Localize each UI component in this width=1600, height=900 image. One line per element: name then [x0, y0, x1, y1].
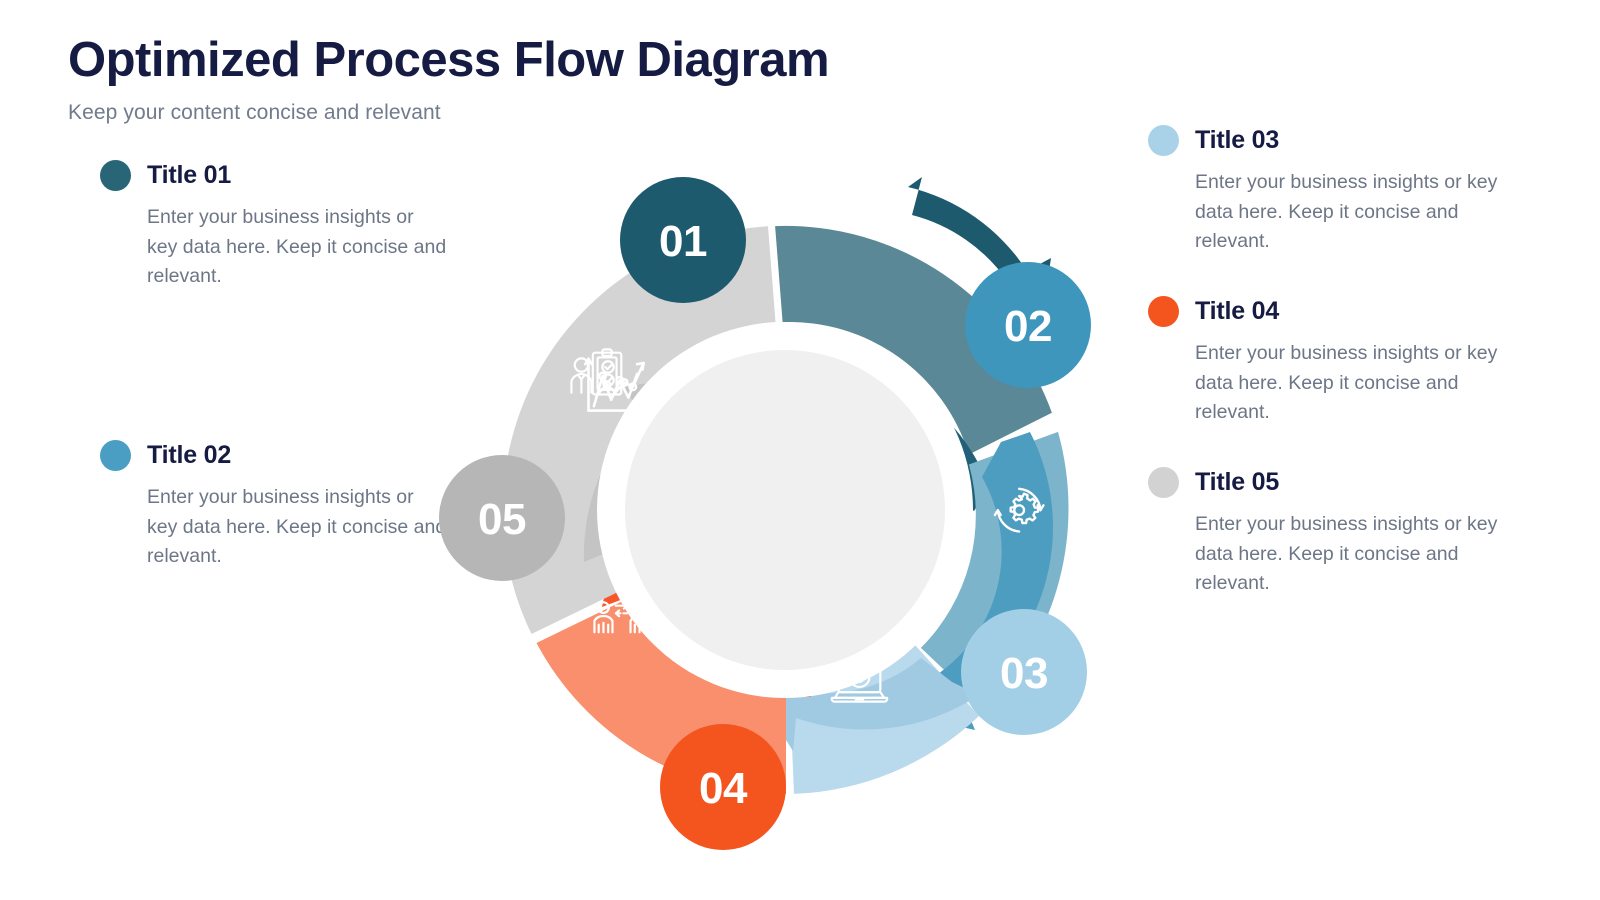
legend-title: Title 02: [147, 441, 231, 470]
wheel-center-disc: [625, 350, 945, 670]
slide-canvas: Optimized Process Flow Diagram Keep your…: [0, 0, 1600, 900]
legend-title: Title 05: [1195, 468, 1279, 497]
legend-item-title-01[interactable]: Title 01 Enter your business insights or…: [100, 160, 430, 292]
legend-bullet-icon: [1148, 296, 1179, 327]
legend-description: Enter your business insights or key data…: [1195, 168, 1505, 257]
legend-head: Title 05: [1148, 467, 1478, 498]
step-badge-05-label: 05: [478, 495, 526, 544]
step-badge-01-label: 01: [659, 217, 707, 266]
header: Optimized Process Flow Diagram Keep your…: [68, 34, 829, 125]
legend-bullet-icon: [100, 440, 131, 471]
legend-item-title-03[interactable]: Title 03 Enter your business insights or…: [1148, 125, 1478, 257]
legend-item-title-04[interactable]: Title 04 Enter your business insights or…: [1148, 296, 1478, 428]
legend-head: Title 04: [1148, 296, 1478, 327]
step-badge-05[interactable]: 05: [439, 455, 565, 581]
step-badge-03-label: 03: [1000, 649, 1048, 698]
step-badge-02[interactable]: 02: [965, 262, 1091, 388]
legend-description: Enter your business insights or key data…: [147, 483, 447, 572]
step-badge-03[interactable]: 03: [961, 609, 1087, 735]
legend-item-title-02[interactable]: Title 02 Enter your business insights or…: [100, 440, 430, 572]
legend-item-title-05[interactable]: Title 05 Enter your business insights or…: [1148, 467, 1478, 599]
step-badge-01[interactable]: 01: [620, 177, 746, 303]
legend-description: Enter your business insights or key data…: [1195, 339, 1505, 428]
step-badge-02-label: 02: [1004, 302, 1052, 351]
legend-title: Title 04: [1195, 297, 1279, 326]
legend-bullet-icon: [1148, 467, 1179, 498]
page-title: Optimized Process Flow Diagram: [68, 34, 829, 87]
step-badge-04[interactable]: 04: [660, 724, 786, 850]
legend-description: Enter your business insights or key data…: [147, 203, 447, 292]
legend-description: Enter your business insights or key data…: [1195, 510, 1505, 599]
legend-head: Title 01: [100, 160, 430, 191]
legend-head: Title 03: [1148, 125, 1478, 156]
legend-bullet-icon: [100, 160, 131, 191]
legend-bullet-icon: [1148, 125, 1179, 156]
page-subtitle: Keep your content concise and relevant: [68, 101, 829, 125]
legend-title: Title 01: [147, 161, 231, 190]
legend-head: Title 02: [100, 440, 430, 471]
process-flow-wheel: 01 02 03 04 05: [430, 155, 1140, 865]
step-badge-04-label: 04: [699, 764, 748, 813]
legend-title: Title 03: [1195, 126, 1279, 155]
